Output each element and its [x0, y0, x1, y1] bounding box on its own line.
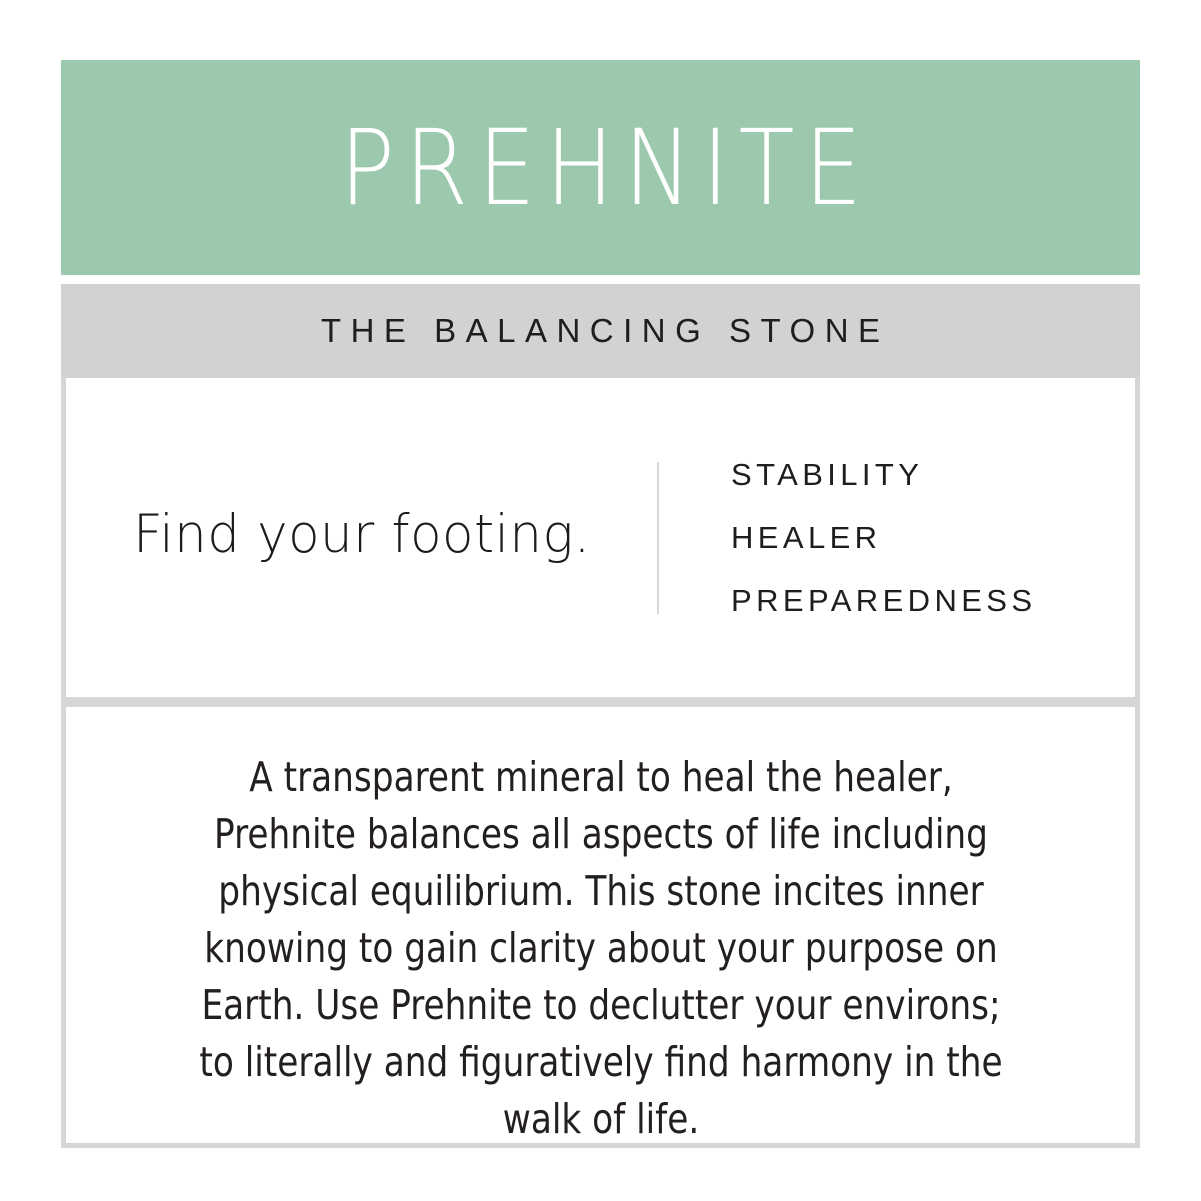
list-item: HEALER — [731, 506, 1036, 569]
card-header-band: PREHNITE — [61, 60, 1140, 275]
tagline-keywords-panel: Find your footing. STABILITY HEALER PREP… — [61, 378, 1140, 702]
crystal-info-card: PREHNITE THE BALANCING STONE Find your f… — [0, 0, 1201, 1201]
page-title: PREHNITE — [330, 116, 872, 220]
keyword-list: STABILITY HEALER PREPAREDNESS — [659, 443, 1036, 632]
tagline-cell: Find your footing. — [66, 378, 657, 697]
description-text: A transparent mineral to heal the healer… — [187, 707, 1015, 1148]
card-subtitle-band: THE BALANCING STONE — [61, 284, 1140, 378]
card-subtitle: THE BALANCING STONE — [311, 312, 889, 350]
keywords-cell: STABILITY HEALER PREPAREDNESS — [657, 378, 1135, 697]
tagline-text: Find your footing. — [133, 504, 591, 565]
list-item: STABILITY — [731, 443, 1036, 506]
description-panel: A transparent mineral to heal the healer… — [61, 702, 1140, 1148]
list-item: PREPAREDNESS — [731, 569, 1036, 632]
